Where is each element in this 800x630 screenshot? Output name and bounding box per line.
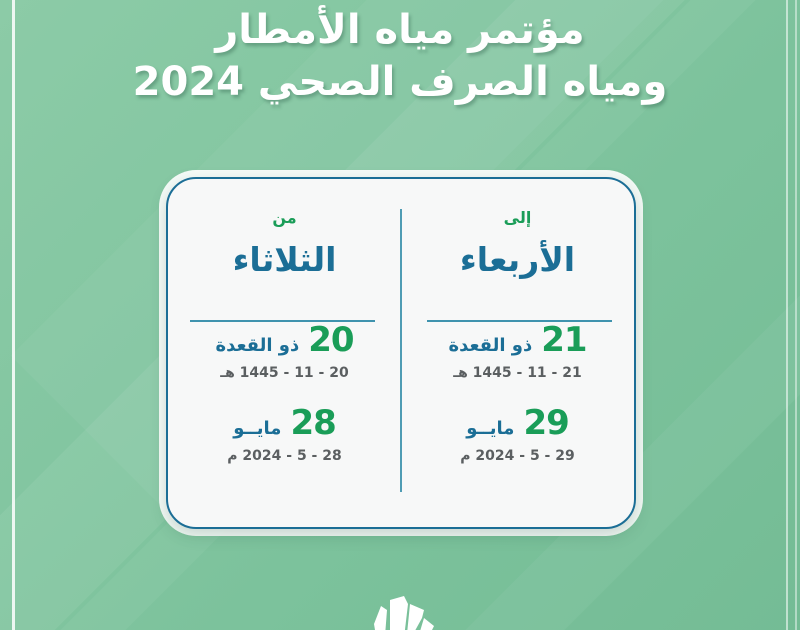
to-hijri-day: 21 xyxy=(541,323,586,357)
to-hijri-month: ذو القعدة xyxy=(448,337,532,355)
to-dates: 21 ذو القعدة 21 - 11 - 1445 هـ 29 مايــو… xyxy=(401,323,634,463)
from-gregorian-row: 28 مايــو xyxy=(233,406,336,440)
from-dates: 20 ذو القعدة 20 - 11 - 1445 هـ 28 مايــو… xyxy=(168,323,401,463)
from-hijri-day: 20 xyxy=(308,323,353,357)
card-divider-vertical xyxy=(400,209,402,492)
from-hijri-row: 20 ذو القعدة xyxy=(215,323,353,357)
to-gregorian-day: 29 xyxy=(523,406,568,440)
fan-petals-logo xyxy=(354,584,446,630)
to-gregorian-full: 29 - 5 - 2024 م xyxy=(460,449,574,463)
from-hijri-month: ذو القعدة xyxy=(215,337,299,355)
from-gregorian-day: 28 xyxy=(290,406,335,440)
to-hijri-row: 21 ذو القعدة xyxy=(448,323,586,357)
card-divider-horizontal-left xyxy=(190,320,375,322)
page-title-line-2: ومياه الصرف الصحي 2024 xyxy=(60,56,740,108)
from-label: من xyxy=(272,210,296,226)
date-column-to: إلى الأربعاء 21 ذو القعدة 21 - 11 - 1445… xyxy=(401,179,634,527)
to-gregorian-row: 29 مايــو xyxy=(466,406,569,440)
to-day-name: الأربعاء xyxy=(460,243,575,276)
to-label: إلى xyxy=(504,210,532,226)
event-dates-card: من الثلاثاء 20 ذو القعدة 20 - 11 - 1445 … xyxy=(166,177,636,529)
poster-canvas: مؤتمر مياه الأمطار ومياه الصرف الصحي 202… xyxy=(0,0,800,630)
page-title: مؤتمر مياه الأمطار ومياه الصرف الصحي 202… xyxy=(0,4,800,108)
from-gregorian-month: مايــو xyxy=(233,420,281,438)
from-hijri-full: 20 - 11 - 1445 هـ xyxy=(220,366,348,380)
to-hijri-full: 21 - 11 - 1445 هـ xyxy=(453,366,581,380)
from-day-name: الثلاثاء xyxy=(233,243,337,276)
date-column-from: من الثلاثاء 20 ذو القعدة 20 - 11 - 1445 … xyxy=(168,179,401,527)
card-divider-horizontal-right xyxy=(427,320,612,322)
from-gregorian-full: 28 - 5 - 2024 م xyxy=(227,449,341,463)
page-title-line-1: مؤتمر مياه الأمطار xyxy=(60,4,740,56)
to-gregorian-month: مايــو xyxy=(466,420,514,438)
